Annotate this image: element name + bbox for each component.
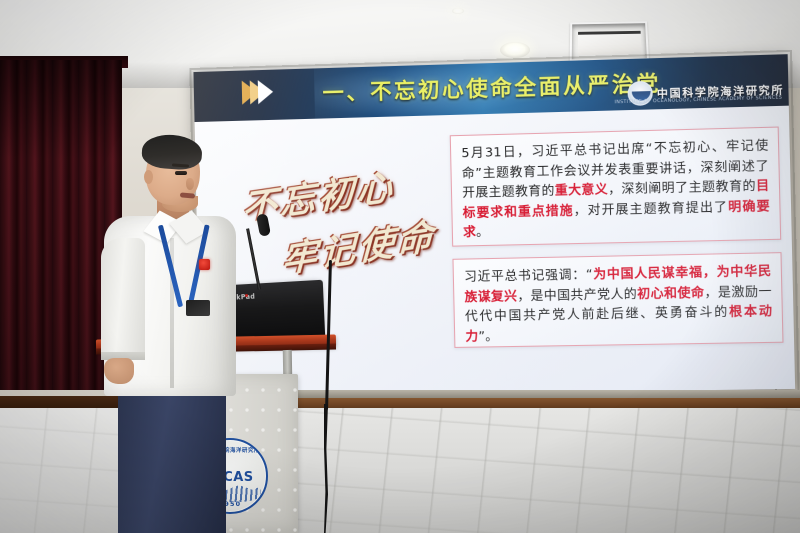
slide-textbox-2: 习近平总书记强调：“为中国人民谋幸福，为中华民族谋复兴，是中国共产党人的初心和使… [452, 252, 783, 348]
highlighted-phrase: 重大意义 [555, 181, 609, 198]
party-emblem-pin-icon [199, 259, 210, 270]
slide-textbox-1-content: 5月31日，习近平总书记出席“不忘初心、牢记使命”主题教育工作会议并发表重要讲话… [451, 128, 780, 243]
highlighted-phrase: 初心和使命 [637, 284, 705, 301]
ceiling-downlight [452, 8, 464, 14]
speaker-left-hand [104, 358, 134, 384]
body-text-run: ，对开展主题教育提出了 [573, 199, 728, 218]
ceiling-air-vent [570, 21, 649, 61]
ceiling-downlight [500, 42, 530, 58]
conference-room-photo: 一、不忘初心使命全面从严治党 中国科学院海洋研究所 INSTITUTE OF O… [0, 0, 800, 533]
speaker-left-arm [101, 238, 145, 360]
id-badge [186, 300, 210, 316]
slide-textbox-2-content: 习近平总书记强调：“为中国人民谋幸福，为中华民族谋复兴，是中国共产党人的初心和使… [454, 253, 783, 346]
calligraphy-artwork: 不忘初心 牢记使命 [239, 156, 440, 287]
speaker-trousers [118, 388, 226, 533]
speaker-eye [175, 171, 187, 175]
speaker-ear [144, 170, 153, 184]
body-text-run: ”。 [478, 328, 498, 344]
body-text-run: 习近平总书记强调：“ [464, 266, 593, 284]
slide-textbox-1: 5月31日，习近平总书记出席“不忘初心、牢记使命”主题教育工作会议并发表重要讲话… [450, 127, 781, 247]
body-text-run: 。 [476, 224, 489, 239]
body-text-run: ，是中国共产党人的 [517, 285, 637, 303]
vent-inner [578, 31, 642, 55]
body-text-run: ，深刻阐明了主题教育的 [608, 178, 756, 197]
double-chevron-icon [242, 80, 274, 105]
speaker-nose [186, 178, 194, 190]
